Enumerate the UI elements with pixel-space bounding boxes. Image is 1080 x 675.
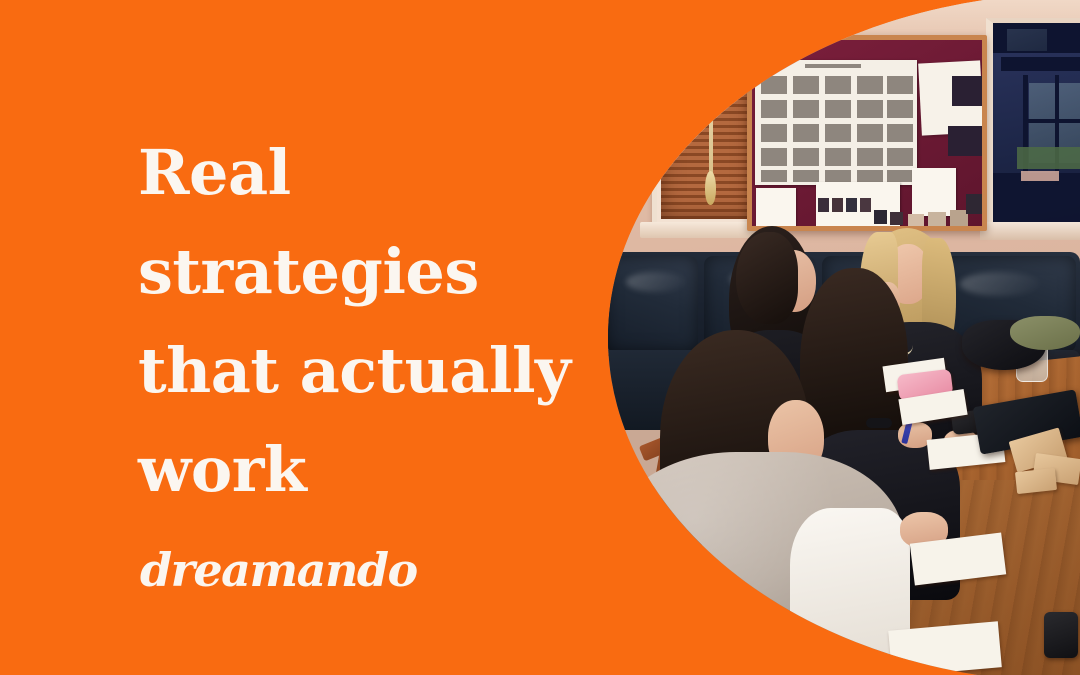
pinned-photo xyxy=(846,198,857,212)
dark-window-sill xyxy=(980,222,1080,240)
window-lower-dark xyxy=(993,173,1080,228)
sofa-cushion xyxy=(606,256,698,352)
window-transom xyxy=(1001,57,1080,71)
page-title: Real strategies that actually work xyxy=(138,123,608,519)
olive-tote-bag xyxy=(1010,316,1080,350)
dreamando-logo[interactable]: dreamando xyxy=(140,543,417,597)
leather-highlight xyxy=(626,272,686,292)
chair-back xyxy=(759,607,794,675)
flyer-colorful xyxy=(756,188,796,226)
pinned-photo xyxy=(860,198,871,212)
window-ledge-item xyxy=(1021,171,1059,181)
hair-front xyxy=(736,232,798,324)
blind-tassel xyxy=(705,171,716,205)
hair-tie xyxy=(866,418,892,428)
pinned-photo xyxy=(948,126,982,156)
headline-line-4: work xyxy=(138,420,608,519)
black-object xyxy=(1044,612,1078,658)
blind-cord xyxy=(709,41,713,176)
poster-canvas: Real strategies that actually work dream… xyxy=(0,0,1080,675)
poster-architectural-drawings xyxy=(755,60,917,185)
pinned-photo xyxy=(832,198,843,212)
pinned-photo xyxy=(874,210,887,224)
window-pane xyxy=(1007,29,1047,51)
window-view-grass xyxy=(1017,147,1080,169)
pinned-photo xyxy=(908,214,924,226)
flyer-letter xyxy=(912,168,956,216)
wooden-block xyxy=(1015,468,1057,494)
pinned-photo xyxy=(966,194,982,214)
window-mullion xyxy=(1023,119,1080,123)
pinned-photo xyxy=(928,212,946,226)
headline-line-2: strategies xyxy=(138,222,608,321)
bulletin-board xyxy=(747,35,987,231)
pinned-photo xyxy=(890,212,903,225)
pinned-photo xyxy=(952,76,982,106)
headline-line-3: that actually xyxy=(138,321,608,420)
headline-line-1: Real xyxy=(138,123,608,222)
notebook-paper xyxy=(888,621,1002,675)
leather-highlight xyxy=(960,272,1040,296)
dark-blue-window xyxy=(986,18,1080,228)
pinned-photo xyxy=(818,198,829,212)
bulletin-board-surface xyxy=(752,40,982,226)
